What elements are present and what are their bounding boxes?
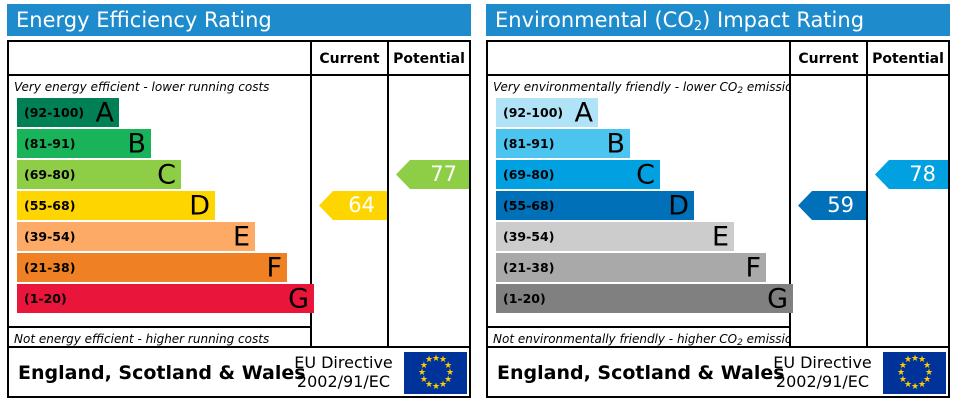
band-range-E: (39-54) [24,222,75,251]
band-range-A: (92-100) [24,98,84,127]
eu-star: ★ [418,370,425,377]
caption-bottom: Not environmentally friendly - higher CO… [488,326,789,350]
band-A: (92-100)A [496,98,598,127]
band-range-D: (55-68) [503,191,554,220]
eu-star: ★ [899,377,906,384]
epc-certificate-page: Energy Efficiency RatingCurrentPotential… [0,0,957,404]
eu-flag-icon: ★★★★★★★★★★★★ [883,352,946,394]
band-letter-D: D [189,192,210,219]
band-D: (55-68)D [17,191,215,220]
band-F: (21-38)F [17,253,287,282]
band-range-C: (69-80) [503,160,554,189]
band-range-G: (1-20) [24,284,67,313]
eu-directive-label: EU Directive2002/91/EC [764,353,881,391]
band-E: (39-54)E [17,222,255,251]
column-header-current: Current [789,42,866,74]
caption-bottom: Not energy efficient - higher running co… [9,326,310,350]
band-letter-B: B [606,130,625,157]
band-letter-A: A [575,99,593,126]
column-header-potential: Potential [866,42,948,74]
caption-top: Very environmentally friendly - lower CO… [488,76,789,98]
band-F: (21-38)F [496,253,766,282]
eu-star: ★ [432,356,439,363]
table-header-row: CurrentPotential [488,42,948,76]
eu-star: ★ [432,384,439,391]
potential-rating-value-78: 78 [875,160,948,189]
eu-directive-line1: EU Directive [764,353,881,372]
band-G: (1-20)G [17,284,314,313]
eu-flag-icon: ★★★★★★★★★★★★ [404,352,467,394]
band-letter-G: G [288,285,309,312]
band-range-F: (21-38) [503,253,554,282]
band-letter-C: C [636,161,655,188]
band-G: (1-20)G [496,284,793,313]
caption-top: Very energy efficient - lower running co… [9,76,310,98]
eu-directive-line2: 2002/91/EC [764,372,881,391]
epc-chart-energy-efficiency: Energy Efficiency RatingCurrentPotential… [0,0,478,404]
table-header-row: CurrentPotential [9,42,469,76]
band-A: (92-100)A [17,98,119,127]
band-E: (39-54)E [496,222,734,251]
band-range-C: (69-80) [24,160,75,189]
band-letter-C: C [157,161,176,188]
band-range-D: (55-68) [24,191,75,220]
rating-bands: (92-100)A(81-91)B(69-80)C(55-68)D(39-54)… [9,98,310,326]
rating-bands: (92-100)A(81-91)B(69-80)C(55-68)D(39-54)… [488,98,789,326]
eu-star: ★ [918,382,925,389]
column-header-current: Current [310,42,387,74]
column-divider-2 [387,76,389,348]
eu-star: ★ [911,356,918,363]
band-range-F: (21-38) [24,253,75,282]
band-C: (69-80)C [17,160,181,189]
band-B: (81-91)B [496,129,630,158]
epc-chart-co2-impact: Environmental (CO2) Impact RatingCurrent… [479,0,957,404]
band-letter-G: G [767,285,788,312]
band-B: (81-91)B [17,129,151,158]
certificate-footer: England, Scotland & WalesEU Directive200… [486,348,950,398]
band-range-G: (1-20) [503,284,546,313]
band-range-A: (92-100) [503,98,563,127]
band-range-B: (81-91) [24,129,75,158]
footer-region-label: England, Scotland & Wales [497,348,785,398]
band-letter-E: E [712,223,729,250]
eu-star: ★ [420,377,427,384]
eu-directive-line2: 2002/91/EC [285,372,402,391]
eu-star: ★ [439,382,446,389]
eu-star: ★ [425,357,432,364]
rating-table-energy-efficiency: CurrentPotentialVery energy efficient - … [7,40,471,348]
band-range-E: (39-54) [503,222,554,251]
eu-star: ★ [897,370,904,377]
chart-title-co2-impact: Environmental (CO2) Impact Rating [486,4,950,36]
rating-table-co2-impact: CurrentPotentialVery environmentally fri… [486,40,950,348]
band-D: (55-68)D [496,191,694,220]
potential-rating-value-77: 77 [396,160,469,189]
current-rating-value-64: 64 [319,191,387,220]
band-letter-D: D [668,192,689,219]
eu-star: ★ [911,384,918,391]
band-letter-A: A [96,99,114,126]
band-letter-F: F [745,254,761,281]
band-letter-F: F [266,254,282,281]
band-letter-E: E [233,223,250,250]
chart-title-energy-efficiency: Energy Efficiency Rating [7,4,471,36]
certificate-footer: England, Scotland & WalesEU Directive200… [7,348,471,398]
current-rating-value-59: 59 [798,191,866,220]
column-divider-2 [866,76,868,348]
band-letter-B: B [127,130,146,157]
eu-directive-line1: EU Directive [285,353,402,372]
band-C: (69-80)C [496,160,660,189]
eu-star: ★ [904,357,911,364]
column-header-potential: Potential [387,42,469,74]
eu-directive-label: EU Directive2002/91/EC [285,353,402,391]
footer-region-label: England, Scotland & Wales [18,348,306,398]
band-range-B: (81-91) [503,129,554,158]
